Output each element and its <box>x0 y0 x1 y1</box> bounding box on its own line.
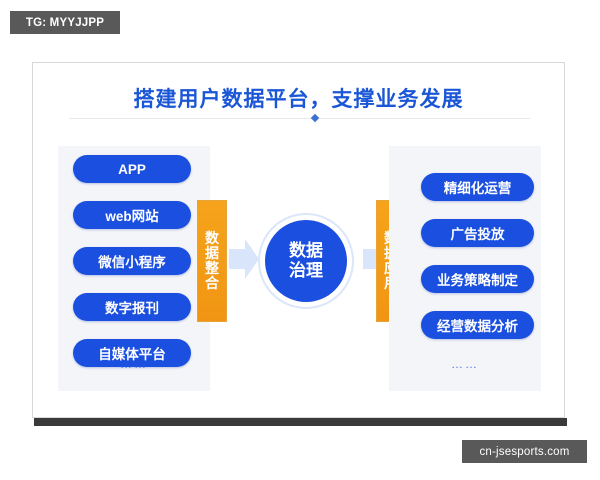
application-pill-operations-analysis[interactable]: 经营数据分析 <box>421 311 534 339</box>
source-pill-miniapp[interactable]: 微信小程序 <box>73 247 191 275</box>
card-drop-shadow <box>34 418 567 426</box>
title-divider <box>69 118 530 119</box>
source-pill-digital-press[interactable]: 数字报刊 <box>73 293 191 321</box>
source-pill-app[interactable]: APP <box>73 155 191 183</box>
stage-char-1: 数 <box>205 231 219 246</box>
watermark-top-left: TG: MYYJJPP <box>10 11 120 34</box>
watermark-top-left-text: TG: MYYJJPP <box>26 17 104 29</box>
slide-card: 搭建用户数据平台，支撑业务发展 APP web网站 微信小程序 数字报刊 自媒体… <box>32 62 565 418</box>
source-more-dots: …… <box>58 357 210 371</box>
source-pill-web[interactable]: web网站 <box>73 201 191 229</box>
hub-line-1: 数据 <box>289 241 323 261</box>
stage-char-4: 合 <box>205 276 219 291</box>
watermark-bottom-right-text: cn-jsesports.com <box>479 446 569 458</box>
application-more-dots: …… <box>389 357 541 371</box>
stage-bar-data-integration: 数 据 整 合 <box>197 200 227 322</box>
stage-char-3: 整 <box>205 261 219 276</box>
divider-accent-diamond-icon <box>311 114 319 122</box>
application-pill-refined-operations[interactable]: 精细化运营 <box>421 173 534 201</box>
application-pill-business-strategy[interactable]: 业务策略制定 <box>421 265 534 293</box>
hub-data-governance: 数据 治理 <box>265 220 347 302</box>
arrow-right-icon-1 <box>229 237 259 281</box>
watermark-bottom-right: cn-jsesports.com <box>462 440 587 463</box>
page-title: 搭建用户数据平台，支撑业务发展 <box>33 83 564 113</box>
application-pill-ad-placement[interactable]: 广告投放 <box>421 219 534 247</box>
stage-char-2: 据 <box>205 246 219 261</box>
hub-line-2: 治理 <box>289 261 323 281</box>
